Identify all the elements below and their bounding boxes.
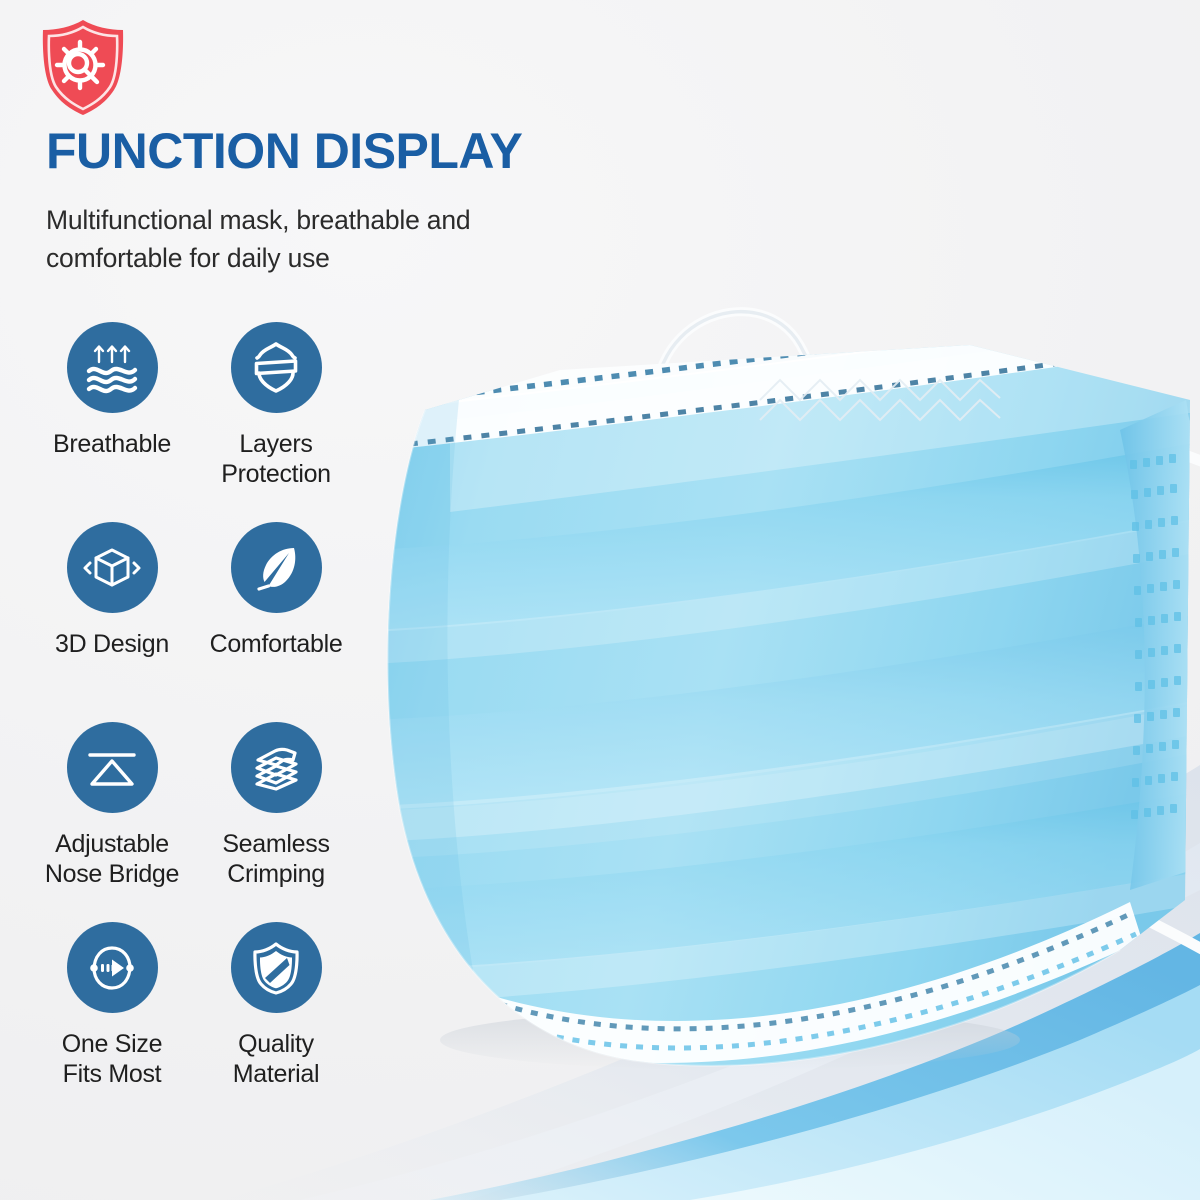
feature-adjustable-nose-bridge[interactable]: Adjustable Nose Bridge [30, 722, 194, 922]
surgical-face-mask-photo [330, 250, 1200, 1080]
cube-3d-icon [81, 545, 143, 591]
feature-icon-badge [67, 522, 158, 613]
feature-one-size-fits-most[interactable]: One Size Fits Most [30, 922, 194, 1122]
shield-virus-search-logo [30, 16, 136, 120]
feature-3d-design[interactable]: 3D Design [30, 522, 194, 722]
feature-label: Seamless Crimping [222, 830, 329, 889]
feature-label: One Size Fits Most [62, 1030, 162, 1089]
product-feature-banner: FUNCTION DISPLAY Multifunctional mask, b… [0, 0, 1200, 1200]
feature-breathable[interactable]: Breathable [30, 322, 194, 522]
feature-label: Adjustable Nose Bridge [45, 830, 179, 889]
stacked-layers-icon [249, 744, 303, 792]
feature-icon-badge [231, 522, 322, 613]
page-title: FUNCTION DISPLAY [46, 126, 522, 176]
feature-icon-badge [67, 322, 158, 413]
feature-icon-badge [231, 922, 322, 1013]
shield-check-icon [251, 941, 301, 995]
feature-icon-badge [67, 722, 158, 813]
resize-arrows-icon [84, 943, 140, 993]
feature-label: Breathable [53, 430, 171, 460]
feature-label: Layers Protection [221, 430, 331, 489]
shield-layers-icon [249, 341, 303, 395]
feature-grid: Breathable Layers Protection [30, 322, 380, 1122]
feature-label: 3D Design [55, 630, 169, 660]
feature-label: Comfortable [210, 630, 343, 660]
feather-icon [251, 543, 301, 593]
airflow-waves-icon [84, 342, 140, 394]
feature-icon-badge [67, 922, 158, 1013]
feature-label: Quality Material [233, 1030, 320, 1089]
feature-icon-badge [231, 722, 322, 813]
nose-bridge-icon [84, 746, 140, 790]
feature-icon-badge [231, 322, 322, 413]
